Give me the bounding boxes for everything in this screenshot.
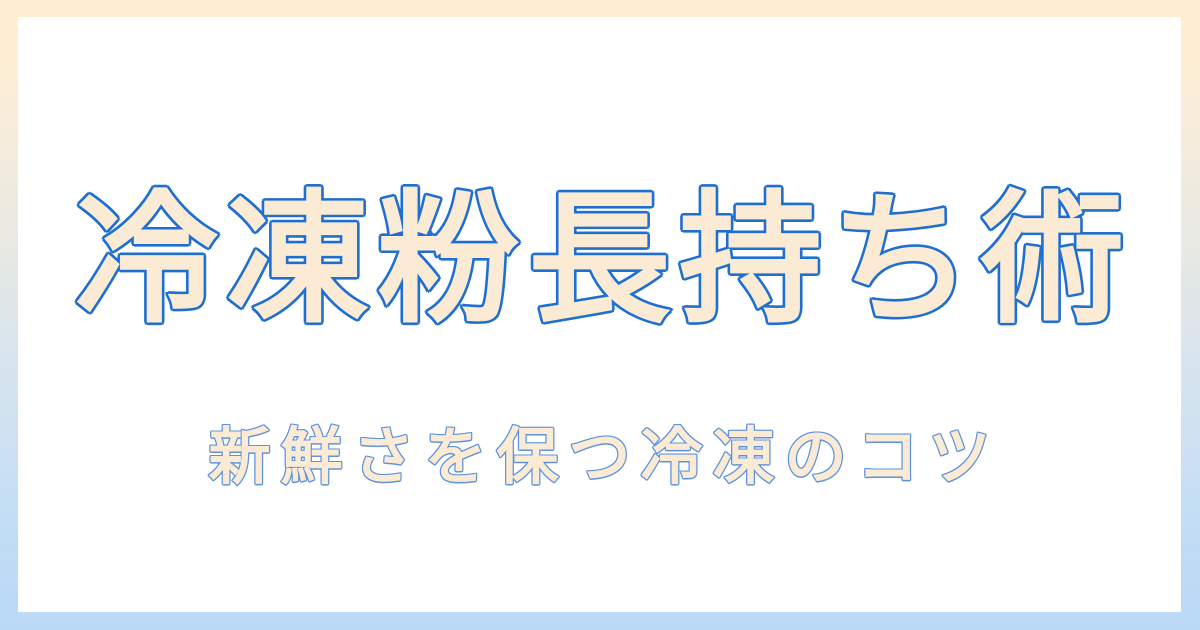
poster-canvas: 冷凍粉長持ち術 新鮮さを保つ冷凍のコツ — [0, 0, 1200, 630]
page-title: 冷凍粉長持ち術 — [67, 188, 1132, 331]
title-container: 冷凍粉長持ち術 — [18, 169, 1181, 349]
page-subtitle: 新鮮さを保つ冷凍のコツ — [198, 426, 1000, 488]
poster-card: 冷凍粉長持ち術 新鮮さを保つ冷凍のコツ — [18, 17, 1181, 612]
subtitle-container: 新鮮さを保つ冷凍のコツ — [18, 415, 1181, 499]
